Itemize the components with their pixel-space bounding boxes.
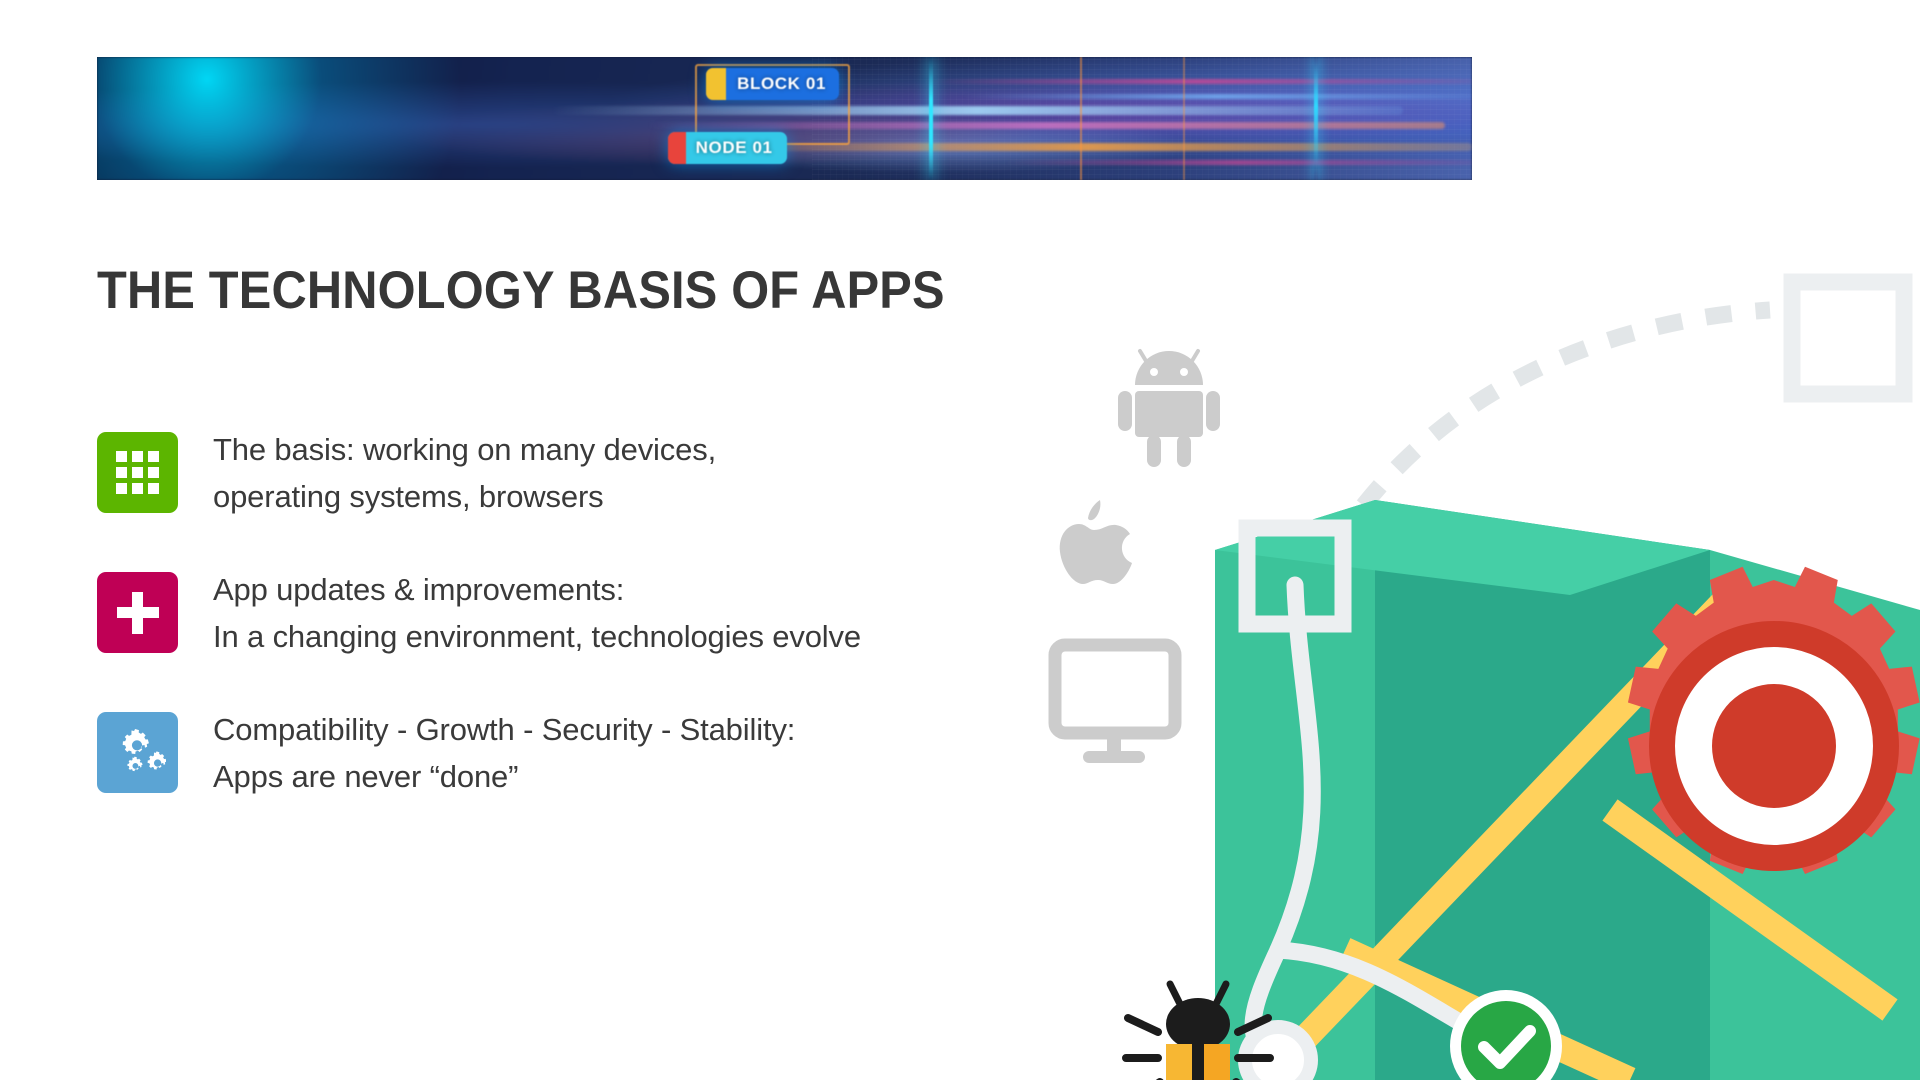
apple-logo-icon [1060,500,1132,584]
gears-icon-tile [97,712,178,793]
bullet-text: Compatibility - Growth - Security - Stab… [213,706,795,800]
page-title: THE TECHNOLOGY BASIS OF APPS [97,260,945,322]
banner-neon-line [929,57,933,180]
chip-label: BLOCK 01 [726,74,839,94]
chip-node-01: NODE 01 [668,132,787,164]
android-robot-icon [1118,351,1220,467]
bullet-item: Compatibility - Growth - Security - Stab… [97,712,1047,852]
bullet-line: The basis: working on many devices, [213,426,716,473]
desktop-monitor-icon [1055,645,1175,763]
banner-neon-line [1314,57,1318,180]
chip-label: NODE 01 [686,138,787,158]
app-ecosystem-illustration [1010,250,1920,1080]
bullet-list: The basis: working on many devices, oper… [97,432,1047,852]
chip-accent [706,68,726,100]
banner-streak [922,79,1472,84]
bullet-line: Apps are never “done” [213,753,795,800]
bullet-item: The basis: working on many devices, oper… [97,432,1047,572]
technology-network-banner: BLOCK 01 NODE 01 [97,57,1472,180]
banner-streak [963,94,1472,99]
bullet-line: App updates & improvements: [213,566,861,613]
plus-icon [117,592,159,634]
bullet-item: App updates & improvements: In a changin… [97,572,1047,712]
bullet-line: Compatibility - Growth - Security - Stab… [213,706,795,753]
white-square-outline [1792,282,1904,394]
bullet-line: In a changing environment, technologies … [213,613,861,660]
bullet-text: The basis: working on many devices, oper… [213,426,716,520]
chip-block-01: BLOCK 01 [706,68,839,100]
plus-icon-tile [97,572,178,653]
bullet-line: operating systems, browsers [213,473,716,520]
white-node-circle [1245,1027,1311,1080]
banner-neon-line [1080,57,1082,180]
bullet-text: App updates & improvements: In a changin… [213,566,861,660]
banner-streak [1005,160,1473,165]
chip-accent [668,132,686,164]
banner-neon-line [1183,57,1185,180]
grid-icon-tile [97,432,178,513]
grid-icon [116,451,159,494]
gears-icon [110,727,166,779]
banner-streak [551,106,1404,115]
red-gear-icon [1628,567,1920,874]
